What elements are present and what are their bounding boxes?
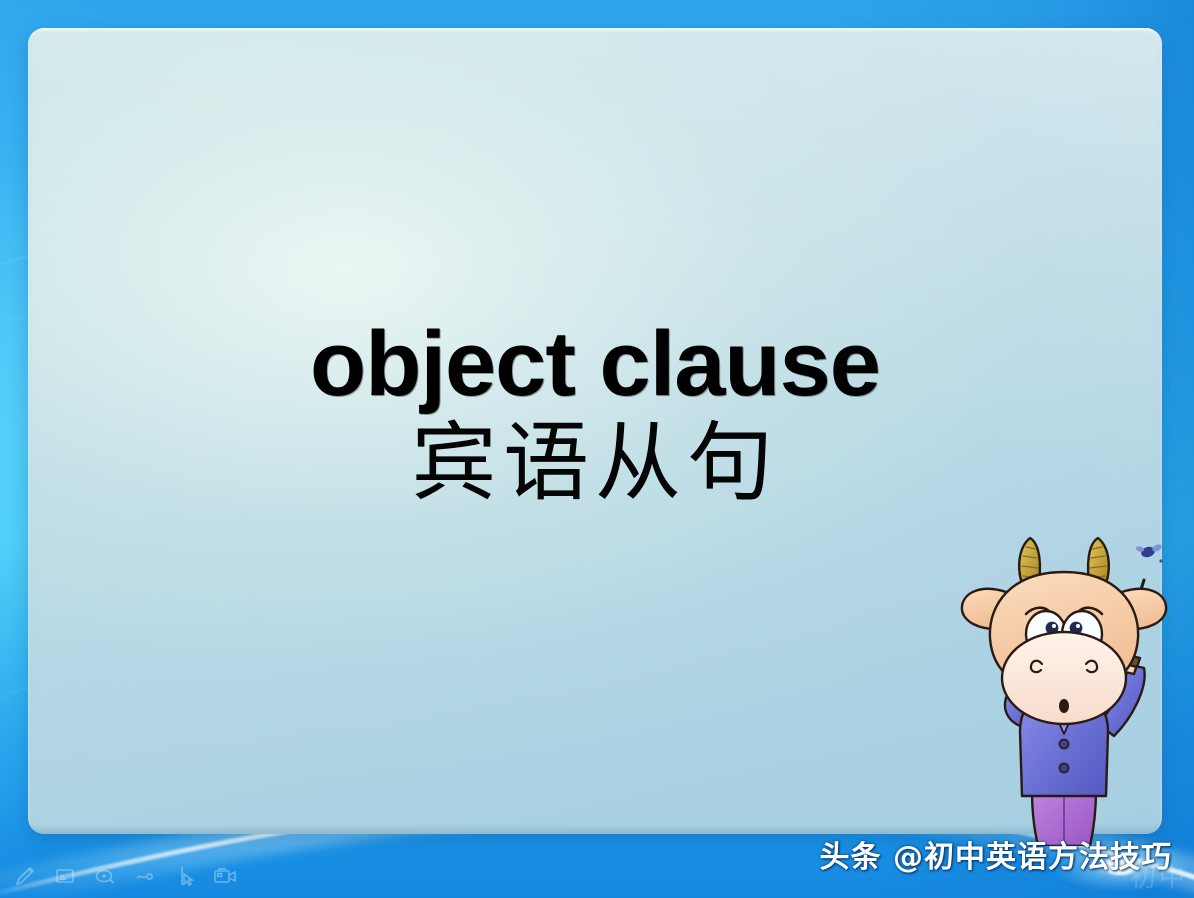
slide-title-chinese: 宾语从句 [28, 418, 1162, 508]
slide-title-english: object clause [28, 318, 1162, 412]
watermark-ghost: 初中 [1130, 857, 1188, 894]
slide-canvas[interactable]: object clause 宾语从句 [28, 28, 1162, 834]
pen-icon[interactable] [10, 862, 40, 890]
magnifier-icon[interactable] [90, 862, 120, 890]
slide-icon[interactable] [50, 862, 80, 890]
pointer-icon[interactable] [170, 862, 200, 890]
watermark: 头条 @初中英语方法技巧 [820, 832, 1172, 876]
slide-title-block: object clause 宾语从句 [28, 318, 1162, 508]
watermark-brand: 头条 [820, 840, 882, 875]
options-icon[interactable] [130, 862, 160, 890]
screen: object clause 宾语从句 [0, 0, 1194, 898]
presenter-toolbar[interactable] [10, 862, 240, 890]
video-icon[interactable] [210, 862, 240, 890]
panel-top-highlight [28, 28, 1162, 31]
